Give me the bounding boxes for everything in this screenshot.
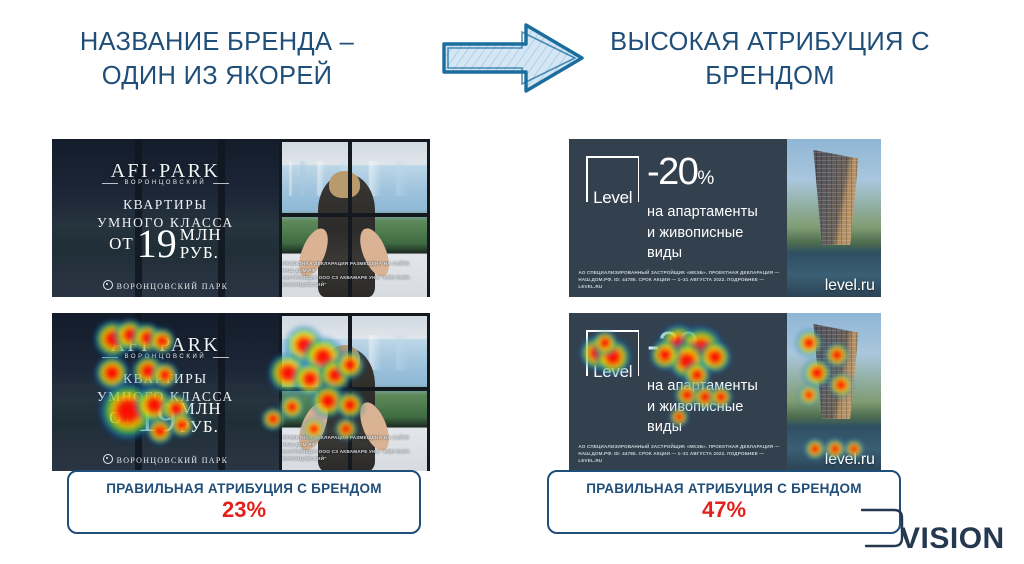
afi-footer-text: ВОРОНЦОВСКИЙ ПАРК [117,282,229,291]
afi-price-prefix: ОТ [109,408,134,428]
level-logo: Level [586,330,639,376]
level-discount-number: -20 [647,325,697,367]
afi-price-number: 19 [137,226,177,263]
afi-footer: ВОРОНЦОВСКИЙ ПАРК [52,279,279,291]
afi-price-prefix: ОТ [109,234,134,254]
afi-legal-text: ПРОЕКТНАЯ ДЕКЛАРАЦИЯ РАЗМЕЩЕНА НА САЙТЕ … [279,435,430,463]
afi-footer-text: ВОРОНЦОВСКИЙ ПАРК [117,456,229,465]
afi-price: ОТ 19 МЛН РУБ. [52,226,279,263]
level-legal-text: АО СПЕЦИАЛИЗИРОВАННЫЙ ЗАСТРОЙЩИК «МКЭБ».… [578,269,784,290]
level-building-photo [787,313,881,471]
heading-left: НАЗВАНИЕ БРЕНДА – ОДИН ИЗ ЯКОРЕЙ [12,26,422,93]
level-discount-percent: % [697,168,714,189]
right-arrow-icon [438,18,588,98]
afi-price-suffix: МЛН РУБ. [180,400,222,436]
level-discount: -20% [647,327,714,365]
afi-brand-sub: ВОРОНЦОВСКИЙ [52,180,279,186]
afi-price: ОТ 19 МЛН РУБ. [52,400,279,437]
level-url: level.ru [825,451,875,469]
level-building-photo [787,139,881,297]
level-logo-text: Level [586,363,639,380]
result-value-left: 23% [222,497,266,523]
afi-legal-text: ПРОЕКТНАЯ ДЕКЛАРАЦИЯ РАЗМЕЩЕНА НА САЙТЕ … [279,261,430,289]
result-box-left: ПРАВИЛЬНАЯ АТРИБУЦИЯ С БРЕНДОМ 23% [67,470,421,534]
ad-creative-right-heatmap: Level -20% на апартаменты и живописные в… [569,313,881,471]
result-box-right: ПРАВИЛЬНАЯ АТРИБУЦИЯ С БРЕНДОМ 47% [547,470,901,534]
afi-price-number: 19 [137,400,177,437]
vision-logo-text: VISION [900,524,1005,554]
level-discount: -20% [647,153,714,191]
result-label-left: ПРАВИЛЬНАЯ АТРИБУЦИЯ С БРЕНДОМ [106,481,382,496]
level-logo: Level [586,156,639,202]
level-body-text: на апартаменты и живописные виды [647,202,758,264]
level-body-text: на апартаменты и живописные виды [647,376,758,438]
ad-creative-right-clean: Level -20% на апартаменты и живописные в… [569,139,881,297]
vision-logo: VISION [900,524,1005,554]
level-legal-text: АО СПЕЦИАЛИЗИРОВАННЫЙ ЗАСТРОЙЩИК «МКЭБ».… [578,443,784,464]
ad-creative-left-clean: AFI·PARK ВОРОНЦОВСКИЙ КВАРТИРЫ УМНОГО КЛ… [52,139,430,297]
level-discount-percent: % [697,342,714,363]
level-url: level.ru [825,277,875,295]
afi-price-suffix: МЛН РУБ. [180,226,222,262]
afi-brand-sub: ВОРОНЦОВСКИЙ [52,354,279,360]
level-logo-text: Level [586,189,639,206]
level-discount-number: -20 [647,151,697,193]
heading-right: ВЫСОКАЯ АТРИБУЦИЯ С БРЕНДОМ [575,26,965,93]
result-value-right: 47% [702,497,746,523]
ad-creative-left-heatmap: AFI·PARK ВОРОНЦОВСКИЙ КВАРТИРЫ УМНОГО КЛ… [52,313,430,471]
result-label-right: ПРАВИЛЬНАЯ АТРИБУЦИЯ С БРЕНДОМ [586,481,862,496]
slide-root: НАЗВАНИЕ БРЕНДА – ОДИН ИЗ ЯКОРЕЙ ВЫСОКАЯ… [0,0,1024,564]
afi-footer: ВОРОНЦОВСКИЙ ПАРК [52,453,279,465]
